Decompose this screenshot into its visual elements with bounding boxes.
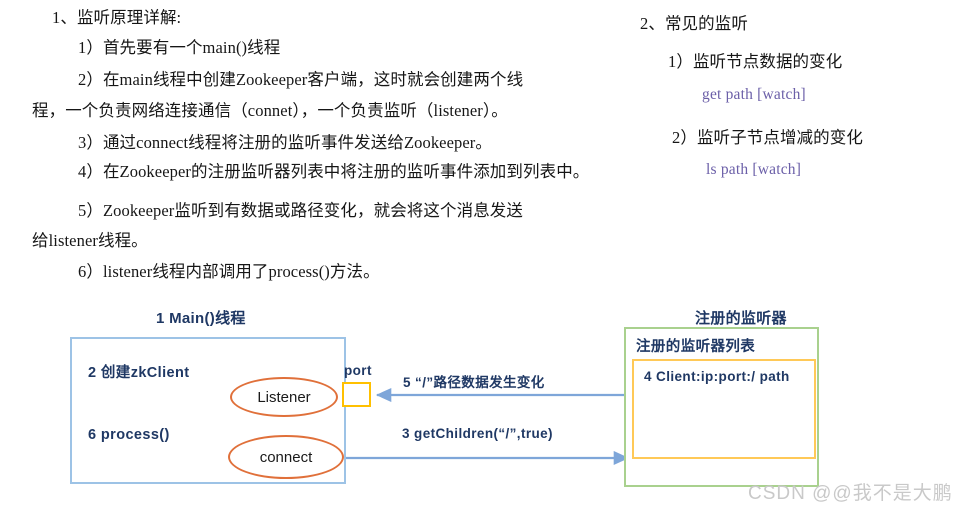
watcher-server-title: 注册的监听器 bbox=[695, 307, 787, 328]
label-process: 6 process() bbox=[88, 427, 170, 443]
port-label: port bbox=[344, 363, 372, 378]
right-code-2: ls path [watch] bbox=[706, 161, 801, 179]
label-path-data-changed: 5 “/”路径数据发生变化 bbox=[403, 371, 545, 391]
left-heading: 1、监听原理详解: bbox=[52, 8, 181, 28]
watcher-list-title: 注册的监听器列表 bbox=[636, 335, 755, 356]
left-item-4: 4）在Zookeeper的注册监听器列表中将注册的监听事件添加到列表中。 bbox=[78, 162, 589, 182]
left-item-5: 5）Zookeeper监听到有数据或路径变化，就会将这个消息发送 bbox=[78, 201, 523, 221]
connect-ellipse: connect bbox=[228, 435, 344, 479]
watcher-entry-client: 4 Client:ip:port:/ path bbox=[644, 369, 790, 384]
right-item-1: 1）监听节点数据的变化 bbox=[668, 52, 842, 72]
left-item-5-cont: 给listener线程。 bbox=[32, 231, 148, 251]
left-item-2-cont: 程，一个负责网络连接通信（connet），一个负责监听（listener）。 bbox=[32, 101, 508, 121]
notes-right-column: 2、常见的监听 1）监听节点数据的变化 get path [watch] 2）监… bbox=[620, 0, 962, 200]
left-item-2: 2）在main线程中创建Zookeeper客户端，这时就会创建两个线 bbox=[78, 70, 523, 90]
port-box bbox=[342, 382, 371, 407]
main-thread-title: 1 Main()线程 bbox=[156, 307, 246, 328]
label-create-zkclient: 2 创建zkClient bbox=[88, 361, 190, 382]
listener-ellipse: Listener bbox=[230, 377, 338, 417]
right-item-2: 2）监听子节点增减的变化 bbox=[672, 128, 863, 148]
label-getchildren: 3 getChildren(“/”,true) bbox=[402, 426, 553, 441]
left-item-3: 3）通过connect线程将注册的监听事件发送给Zookeeper。 bbox=[78, 133, 492, 153]
right-heading: 2、常见的监听 bbox=[640, 14, 748, 34]
right-code-1: get path [watch] bbox=[702, 86, 806, 104]
csdn-watermark: CSDN @@我不是大鹏 bbox=[748, 478, 953, 505]
left-item-1: 1）首先要有一个main()线程 bbox=[78, 38, 280, 58]
notes-left-column: 1、监听原理详解: 1）首先要有一个main()线程 2）在main线程中创建Z… bbox=[0, 0, 600, 295]
left-item-6: 6）listener线程内部调用了process()方法。 bbox=[78, 262, 380, 282]
